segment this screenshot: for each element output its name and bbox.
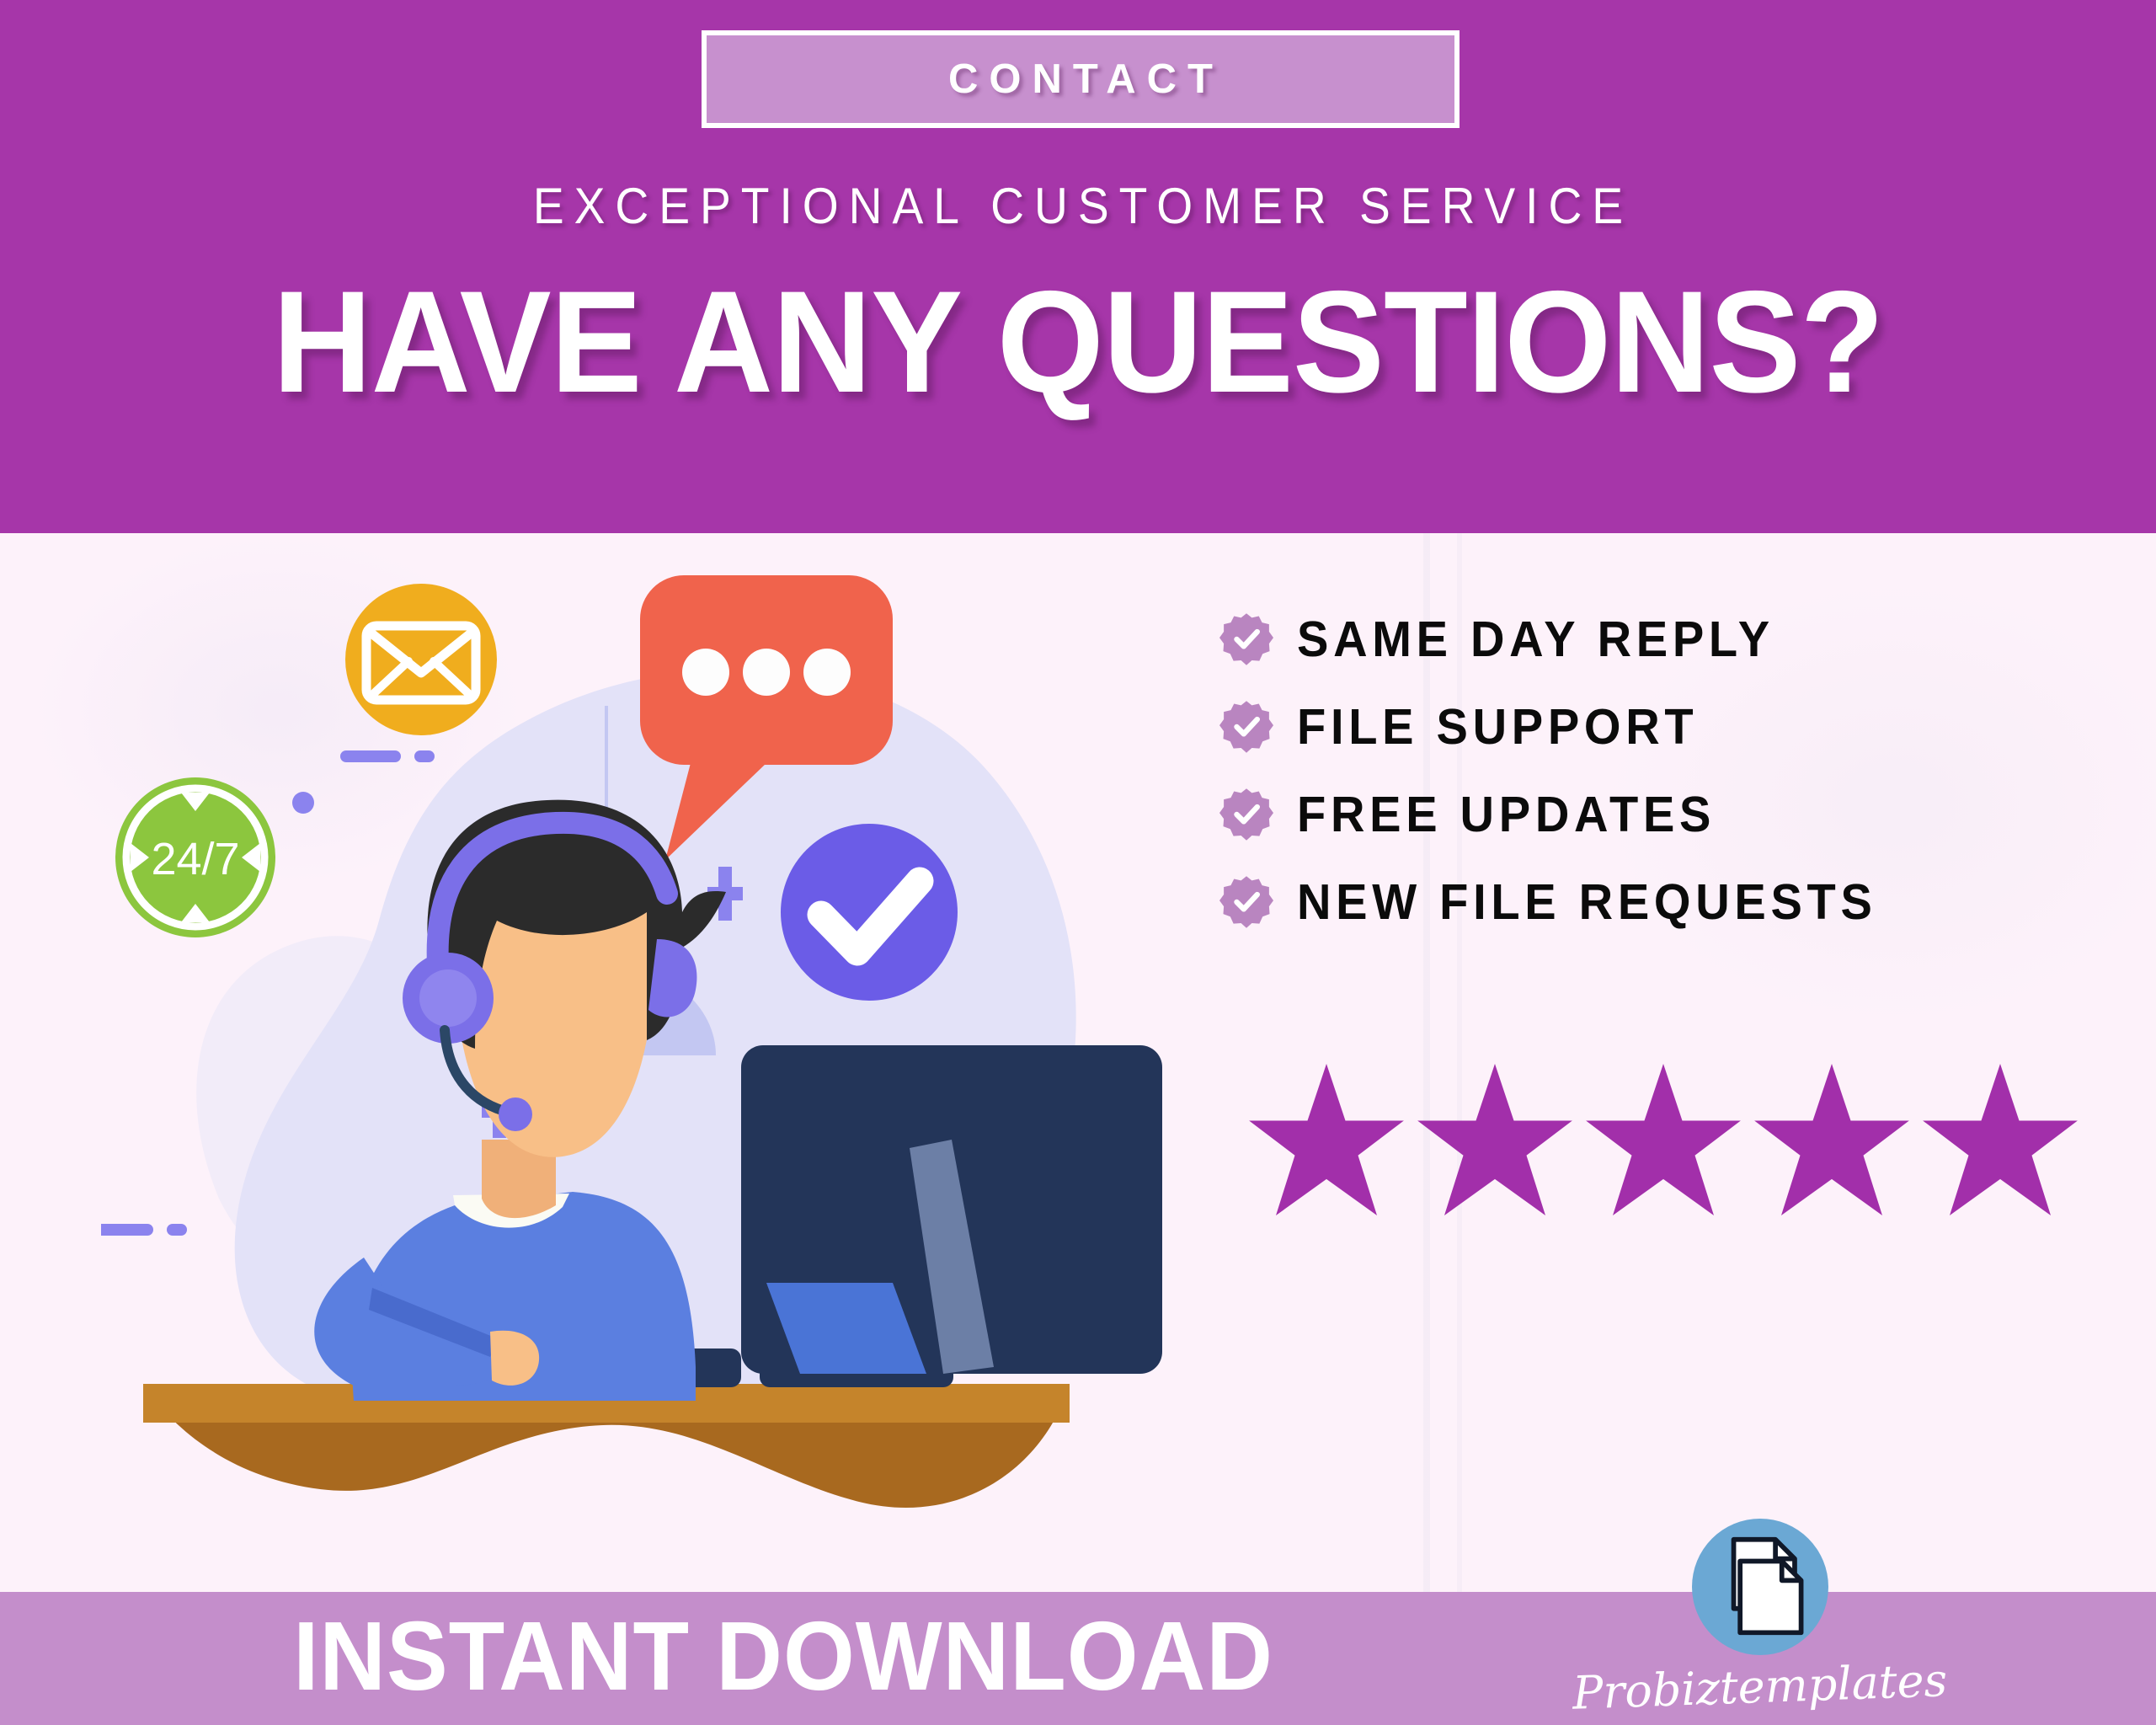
star-icon <box>1920 1064 2080 1215</box>
monitor <box>741 1045 1162 1374</box>
instant-download-label: INSTANT DOWNLOAD <box>47 1607 1519 1705</box>
clock-24-7-icon: 24/7 <box>115 777 275 937</box>
brand-logo: Probiztemplates <box>1634 1519 1886 1725</box>
subheading: EXCEPTIONAL CUSTOMER SERVICE <box>86 177 2069 235</box>
feature-item: FILE SUPPORT <box>1219 697 2062 757</box>
poster-canvas: CONTACT EXCEPTIONAL CUSTOMER SERVICE HAV… <box>0 0 2156 1725</box>
illustration-svg: 24/7 <box>101 558 1196 1569</box>
star-icon <box>1583 1064 1743 1215</box>
star-icon <box>1246 1064 1406 1215</box>
feature-list: SAME DAY REPLY FILE SUPPORT FREE UPDATES <box>1219 609 2062 959</box>
star-icon <box>1415 1064 1575 1215</box>
svg-text:24/7: 24/7 <box>151 834 239 884</box>
documents-stack-icon <box>1692 1519 1828 1655</box>
feature-item: NEW FILE REQUESTS <box>1219 872 2062 932</box>
check-badge-icon <box>1219 612 1273 666</box>
feature-item: SAME DAY REPLY <box>1219 609 2062 670</box>
check-badge-icon <box>1219 700 1273 754</box>
feature-label: SAME DAY REPLY <box>1297 615 1774 665</box>
feature-label: NEW FILE REQUESTS <box>1297 878 1877 927</box>
main-content: 24/7 <box>0 533 2156 1592</box>
header-band: CONTACT EXCEPTIONAL CUSTOMER SERVICE HAV… <box>0 0 2156 533</box>
contact-badge: CONTACT <box>702 30 1460 128</box>
page-title: HAVE ANY QUESTIONS? <box>54 270 2102 414</box>
contact-badge-label: CONTACT <box>937 56 1224 103</box>
support-illustration: 24/7 <box>101 558 1196 1569</box>
feature-label: FILE SUPPORT <box>1297 702 1698 752</box>
star-rating <box>1246 1064 2105 1215</box>
feature-item: FREE UPDATES <box>1219 784 2062 845</box>
star-icon <box>1752 1064 1912 1215</box>
check-badge-icon <box>1219 788 1273 841</box>
check-circle-icon <box>781 824 958 1001</box>
check-badge-icon <box>1219 875 1273 929</box>
envelope-icon <box>345 584 497 735</box>
feature-label: FREE UPDATES <box>1297 790 1716 840</box>
